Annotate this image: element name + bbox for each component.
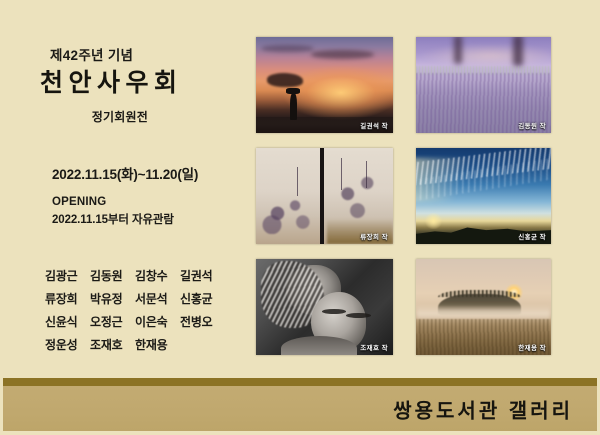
statue-shoulder — [281, 336, 358, 355]
list-item: 박유정 — [90, 290, 135, 307]
cloud-shape — [311, 50, 374, 59]
venue-name: 쌍용도서관 갤러리 — [393, 394, 573, 423]
list-item: 조재호 — [90, 336, 135, 353]
cloud-shape — [261, 45, 313, 53]
list-item: 오정근 — [90, 313, 135, 330]
list-item: 김창수 — [135, 267, 180, 284]
person-silhouette — [290, 93, 297, 120]
banner-body: 쌍용도서관 갤러리 — [3, 386, 597, 431]
photo-thumbnail: 조재호 작 — [256, 259, 393, 355]
backlight-glow — [416, 43, 551, 68]
list-item: 류장희 — [45, 290, 90, 307]
opening-note: 2022.11.15부터 자유관람 — [52, 211, 174, 227]
photo-caption: 류장희 작 — [360, 231, 388, 241]
photo-thumbnail: 한재용 작 — [416, 259, 551, 355]
photo-caption: 한재용 작 — [518, 342, 546, 352]
list-item: 한재용 — [135, 336, 180, 353]
list-item: 서문석 — [135, 290, 180, 307]
photo-caption: 조재호 작 — [360, 342, 388, 352]
tree-trunk-shape — [454, 37, 462, 64]
statue-eye — [322, 309, 347, 314]
frame-divider — [320, 148, 323, 244]
photo-thumbnail: 길권석 작 — [256, 37, 393, 133]
photo-thumbnail: 류장희 작 — [256, 148, 393, 244]
photo-caption: 신홍균 작 — [518, 231, 546, 241]
list-item: 신홍균 — [180, 290, 225, 307]
list-item: 김광근 — [45, 267, 90, 284]
poster-subtitle: 정기회원전 — [92, 108, 148, 125]
page-title: 천안사우회 — [40, 63, 183, 99]
stem-shape — [366, 161, 367, 188]
sun-glare — [424, 213, 443, 228]
anniversary-line: 제42주년 기념 — [50, 44, 133, 64]
exhibition-date-range: 2022.11.15(화)~11.20(일) — [52, 163, 198, 183]
stem-shape — [341, 158, 342, 191]
photo-grid: 길권석 작 김동원 작 류장희 작 신홍균 작 — [256, 37, 558, 369]
list-item: 이은숙 — [135, 313, 180, 330]
flower-shadow-left — [261, 188, 316, 234]
stem-shape — [297, 167, 298, 196]
photo-caption: 길권석 작 — [360, 120, 388, 130]
photo-thumbnail: 김동원 작 — [416, 37, 551, 133]
list-item: 김동원 — [90, 267, 135, 284]
venue-banner: 쌍용도서관 갤러리 — [0, 373, 600, 435]
poster-text-column: 제42주년 기념 천안사우회 정기회원전 2022.11.15(화)~11.20… — [0, 0, 248, 372]
photo-caption: 김동원 작 — [518, 120, 546, 130]
list-item: 신윤식 — [45, 313, 90, 330]
banner-accent-stripe — [3, 378, 597, 386]
opening-label: OPENING — [52, 196, 106, 208]
flower-shadow-right — [327, 165, 387, 225]
exhibition-poster: 제42주년 기념 천안사우회 정기회원전 2022.11.15(화)~11.20… — [0, 0, 600, 435]
list-item: 정운성 — [45, 336, 90, 353]
list-item: 전병오 — [180, 313, 225, 330]
list-item: 길권석 — [180, 267, 225, 284]
cloud-shape — [267, 73, 303, 86]
tree-trunk-shape — [513, 37, 522, 66]
photo-thumbnail: 신홍균 작 — [416, 148, 551, 244]
member-name-list: 김광근 김동원 김창수 길권석 류장희 박유정 서문석 신홍균 신윤식 오정근 … — [45, 267, 225, 353]
statue-eye — [346, 313, 371, 318]
